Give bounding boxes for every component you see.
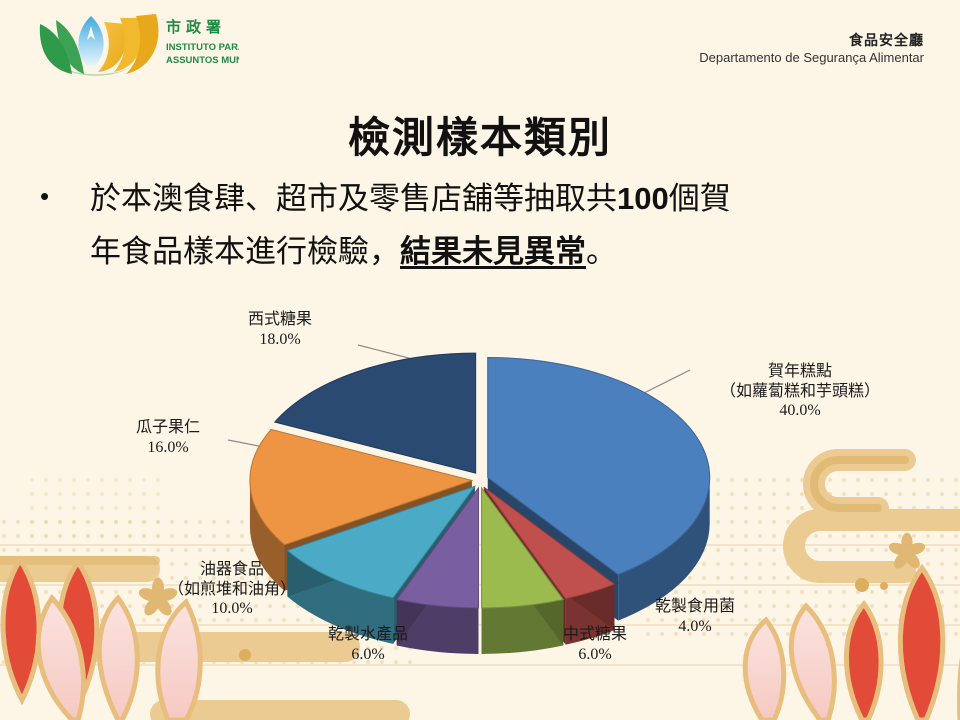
label-western-candy-pct: 18.0%: [215, 330, 345, 350]
label-fried-food-note: （如煎堆和油角）: [152, 580, 312, 600]
sample-count: 100: [617, 181, 669, 216]
logo-zh-text: 市政署: [166, 18, 226, 36]
body-line-2-b: 。: [586, 234, 617, 269]
label-dried-seafood-name: 乾製水產品: [303, 625, 433, 645]
iam-logo: 市政署 INSTITUTO PARA OS ASSUNTOS MUNICIPAI…: [34, 10, 239, 80]
label-seeds-nuts-pct: 16.0%: [108, 438, 228, 458]
label-dried-mushroom-name: 乾製食用菌: [630, 597, 760, 617]
label-dried-mushroom: 乾製食用菌 4.0%: [630, 597, 760, 636]
department-block: 食品安全廳 Departamento de Segurança Alimenta…: [699, 32, 924, 66]
label-new-year-cake: 賀年糕點 （如蘿蔔糕和芋頭糕） 40.0%: [690, 362, 910, 421]
label-fried-food-pct: 10.0%: [152, 599, 312, 619]
label-chinese-candy-pct: 6.0%: [535, 645, 655, 665]
logo-pt-line2: ASSUNTOS MUNICIPAIS: [166, 55, 239, 66]
body-lines: 於本澳食肆、超市及零售店舖等抽取共100個賀 年食品樣本進行檢驗，結果未見異常。: [90, 172, 924, 279]
label-new-year-cake-name: 賀年糕點: [690, 362, 910, 382]
label-new-year-cake-note: （如蘿蔔糕和芋頭糕）: [690, 382, 910, 402]
logo-pt-line1: INSTITUTO PARA OS: [166, 42, 239, 53]
slide: 市政署 INSTITUTO PARA OS ASSUNTOS MUNICIPAI…: [0, 0, 960, 720]
result-emphasis: 結果未見異常: [400, 234, 586, 269]
slide-header: 市政署 INSTITUTO PARA OS ASSUNTOS MUNICIPAI…: [0, 0, 960, 88]
label-western-candy: 西式糖果 18.0%: [215, 310, 345, 349]
page-title: 檢測樣本類別: [0, 104, 960, 165]
label-dried-seafood-pct: 6.0%: [303, 645, 433, 665]
body-line-1-a: 於本澳食肆、超市及零售店舖等抽取共: [90, 181, 617, 216]
body-text-block: • 於本澳食肆、超市及零售店舖等抽取共100個賀 年食品樣本進行檢驗，結果未見異…: [34, 172, 924, 279]
pie-chart: 西式糖果 18.0% 瓜子果仁 16.0% 油器食品 （如煎堆和油角） 10.0…: [0, 300, 960, 700]
label-dried-seafood: 乾製水產品 6.0%: [303, 625, 433, 664]
label-seeds-nuts: 瓜子果仁 16.0%: [108, 418, 228, 457]
bullet-marker: •: [40, 174, 49, 219]
label-fried-food-name: 油器食品: [152, 560, 312, 580]
body-line-2: 年食品樣本進行檢驗，結果未見異常。: [90, 225, 924, 278]
body-line-1-b: 個賀: [669, 181, 731, 216]
label-seeds-nuts-name: 瓜子果仁: [108, 418, 228, 438]
body-line-2-a: 年食品樣本進行檢驗，: [90, 234, 400, 269]
label-western-candy-name: 西式糖果: [215, 310, 345, 330]
label-fried-food: 油器食品 （如煎堆和油角） 10.0%: [152, 560, 312, 619]
label-new-year-cake-pct: 40.0%: [690, 401, 910, 421]
department-name-pt: Departamento de Segurança Alimentar: [699, 50, 924, 66]
body-line-1: 於本澳食肆、超市及零售店舖等抽取共100個賀: [90, 172, 924, 225]
label-dried-mushroom-pct: 4.0%: [630, 617, 760, 637]
department-name-zh: 食品安全廳: [699, 32, 924, 50]
iam-logo-mark: 市政署 INSTITUTO PARA OS ASSUNTOS MUNICIPAI…: [34, 10, 239, 80]
pie-chart-svg: [0, 300, 960, 700]
